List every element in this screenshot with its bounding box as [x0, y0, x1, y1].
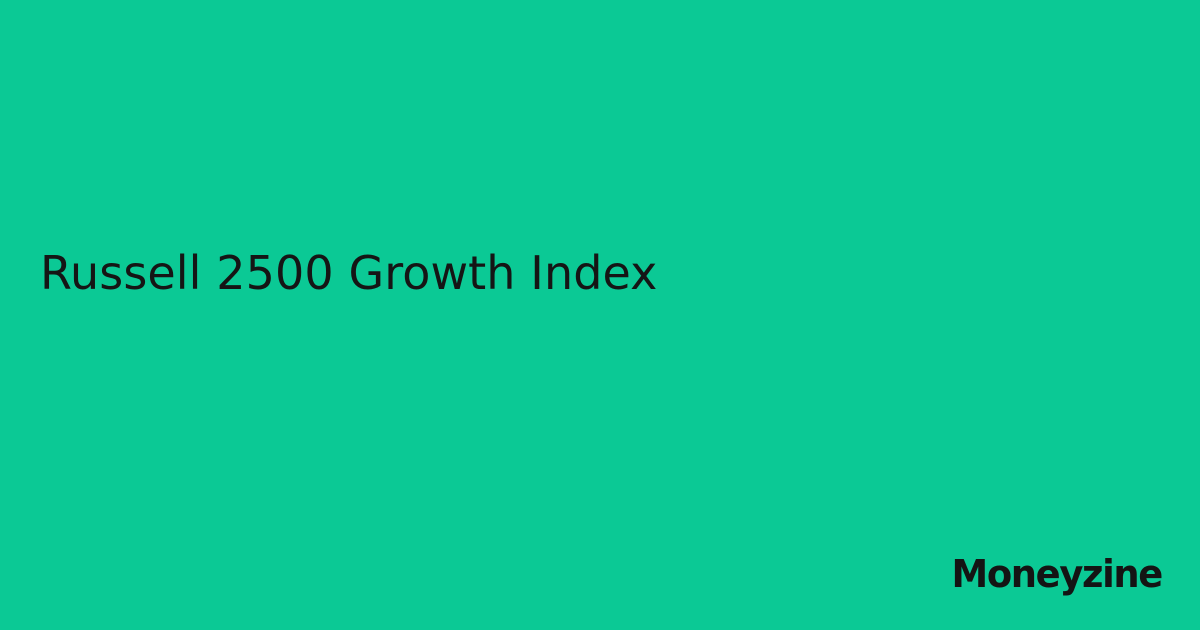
social-share-card: Russell 2500 Growth Index Moneyzine — [0, 0, 1200, 630]
brand-logo: Moneyzine — [945, 555, 1162, 593]
moneyzine-wordmark: Moneyzine — [952, 555, 1162, 593]
page-title: Russell 2500 Growth Index — [40, 248, 1040, 300]
title-block: Russell 2500 Growth Index — [40, 248, 1040, 300]
